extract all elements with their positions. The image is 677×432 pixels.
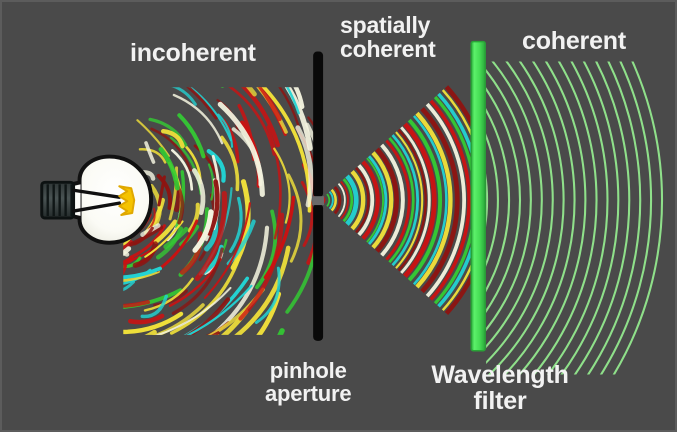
coherence-diagram: incoherent spatially coherent coherent p… bbox=[0, 0, 677, 432]
spatially-coherent-wave-region bbox=[323, 87, 490, 314]
barrier-upper-plate bbox=[313, 52, 323, 198]
diagram-canvas bbox=[2, 2, 675, 430]
filter-glass bbox=[471, 42, 485, 351]
pinhole-gap bbox=[312, 196, 324, 205]
light-bulb bbox=[42, 157, 151, 243]
wavelength-filter-bar bbox=[471, 42, 485, 351]
bulb-glass bbox=[80, 157, 152, 243]
pinhole-aperture-barrier bbox=[312, 52, 324, 341]
barrier-lower-plate bbox=[313, 204, 323, 341]
